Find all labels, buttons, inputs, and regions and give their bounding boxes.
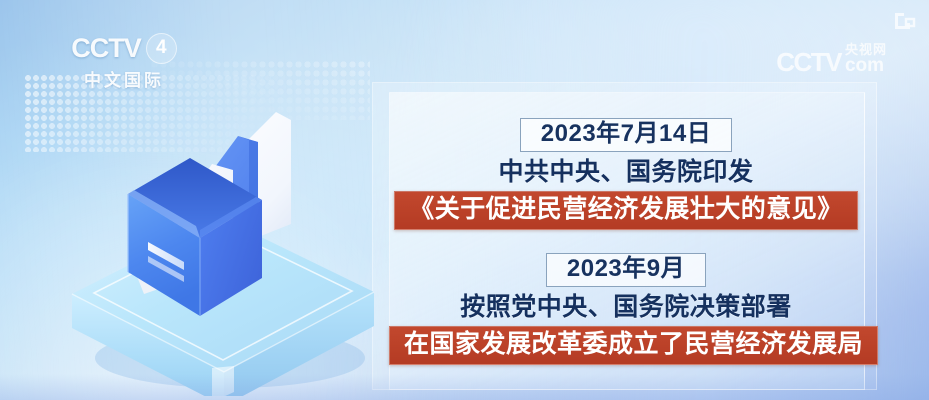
picture-in-picture-icon[interactable] [893,11,917,31]
timeline-highlight-1: 《关于促进民营经济发展壮大的意见》 [394,191,858,230]
watermark-wordmark: CCTV [776,49,841,75]
channel-logo-subtitle: 中文国际 [48,66,200,91]
watermark-domain: com [845,56,887,75]
channel-logo-row: CCTV 4 [48,33,200,63]
channel-logo-wordmark: CCTV [71,33,141,64]
timeline-date-1: 2023年7月14日 [520,118,732,152]
timeline-entry-1: 2023年7月14日 中共中央、国务院印发 《关于促进民营经济发展壮大的意见》 [389,118,863,230]
channel-logo-number: 4 [146,33,177,64]
channel-logo-cctv4: CCTV 4 中文国际 [48,33,200,89]
watermark-cn-label: 央视网 [845,43,887,56]
cctv-com-watermark: CCTV 央视网 com [776,43,887,75]
timeline-highlight-2: 在国家发展改革委成立了民营经济发展局 [389,326,878,365]
document-file-box-illustration [62,96,382,396]
timeline-subject-2: 按照党中央、国务院决策部署 [389,292,863,322]
timeline-date-2: 2023年9月 [546,253,706,287]
broadcast-screen: CCTV 4 中文国际 CCTV 央视网 com [0,0,929,400]
watermark-right-group: 央视网 com [845,43,887,75]
timeline-subject-1: 中共中央、国务院印发 [389,157,863,187]
timeline-entry-2: 2023年9月 按照党中央、国务院决策部署 在国家发展改革委成立了民营经济发展局 [389,253,863,365]
